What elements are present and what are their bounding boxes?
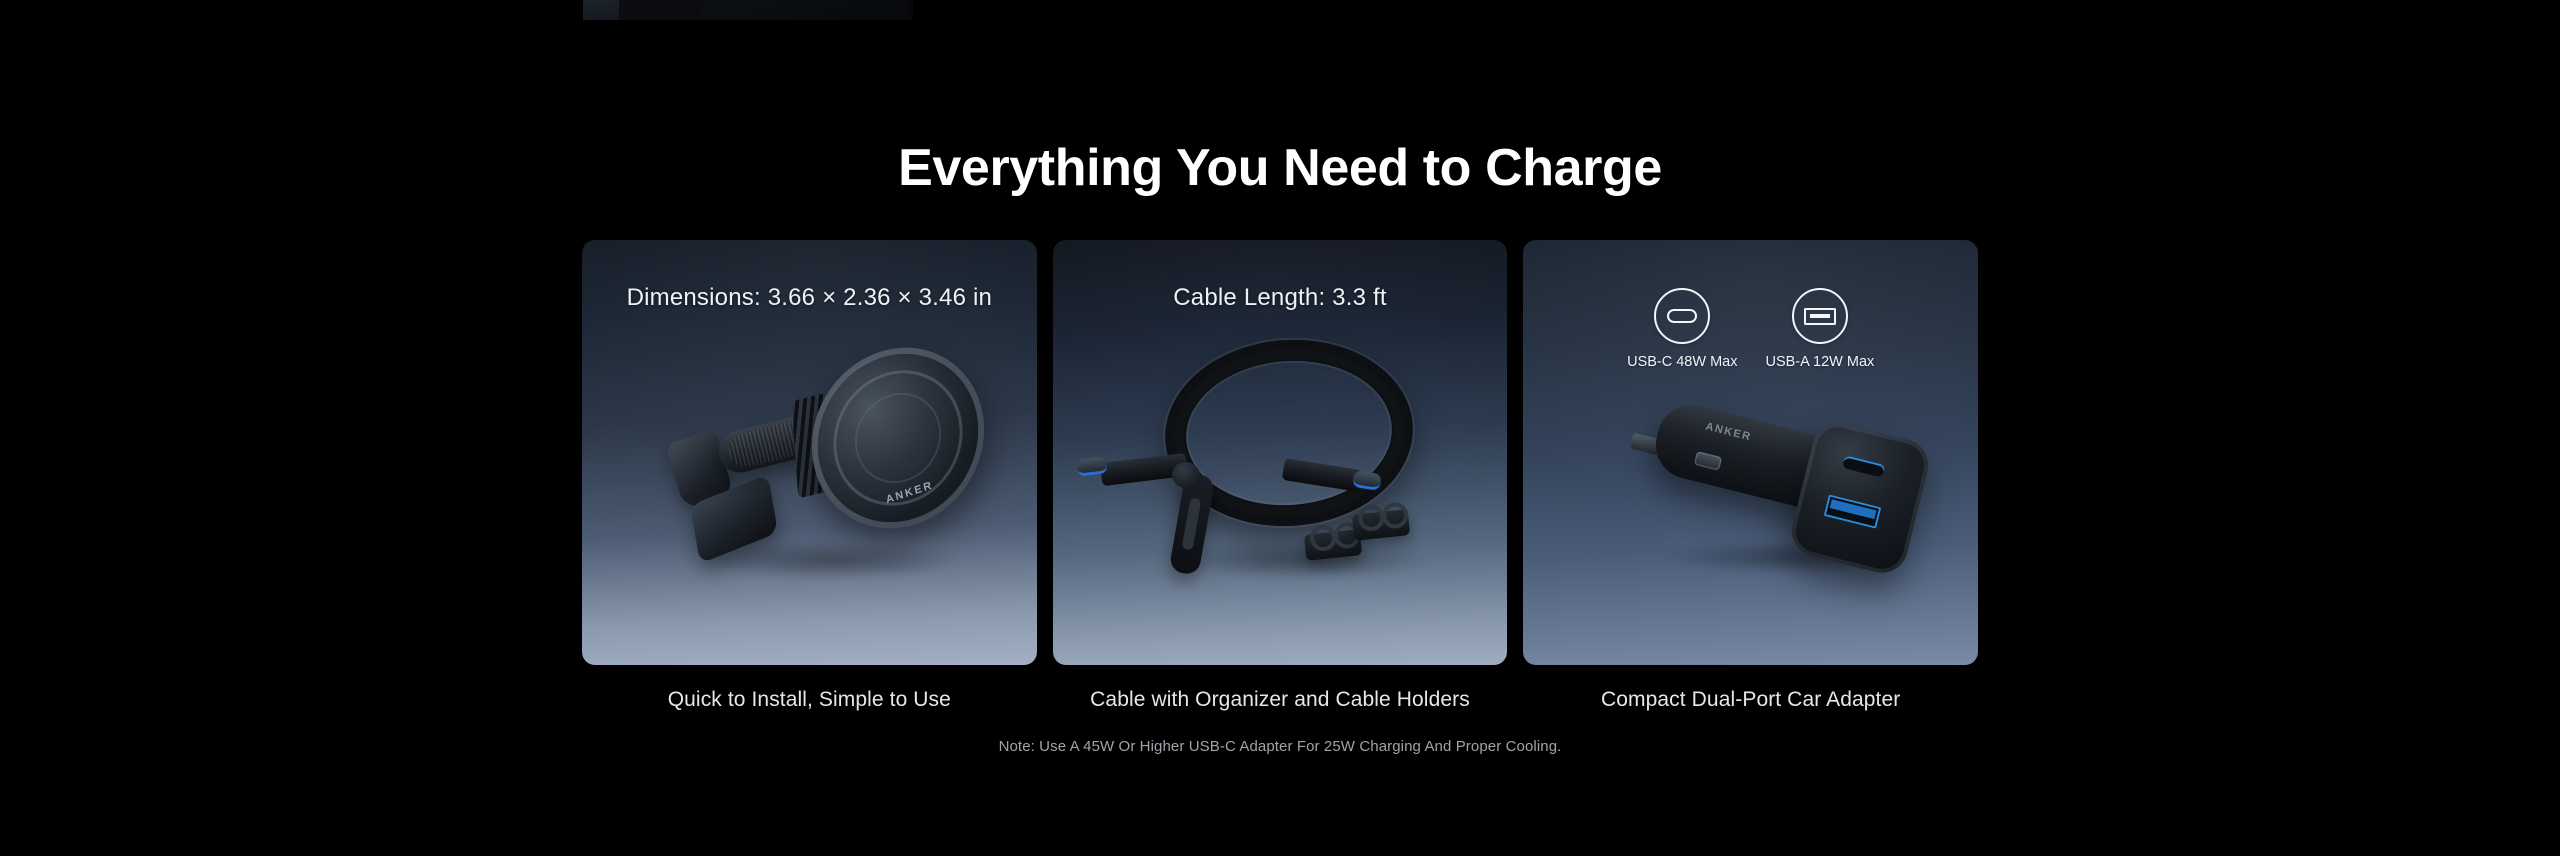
port-spec-usb-a: USB-A 12W Max: [1765, 288, 1874, 370]
feature-cards-row: ANKER Dimensions: 3.66 × 2.36 × 3.46 in …: [582, 240, 1978, 665]
cropped-panel-edge: [583, 0, 619, 20]
adapter-usb-a-port: [1824, 494, 1882, 528]
port-spec-usb-c: USB-C 48W Max: [1627, 288, 1737, 370]
cable-holder-clip: [1351, 509, 1409, 541]
feature-captions-row: Quick to Install, Simple to Use Cable wi…: [582, 688, 1978, 712]
usb-a-glyph-bar: [1810, 314, 1830, 318]
card-title-cable-length: Cable Length: 3.3 ft: [1053, 284, 1508, 312]
caption-adapter: Compact Dual-Port Car Adapter: [1523, 688, 1978, 712]
cable-shadow: [1173, 540, 1433, 580]
feature-card-adapter[interactable]: ANKER USB-C 48W Max: [1523, 240, 1978, 665]
usb-c-glyph: [1667, 309, 1697, 323]
usb-c-port-icon: [1654, 288, 1710, 344]
mount-magsafe-disc: ANKER: [796, 325, 1001, 552]
cropped-product-image-above: SN: 12345678901234567: [0, 0, 2560, 20]
usb-a-port-label: USB-A 12W Max: [1765, 354, 1874, 370]
adapter-port-spec-row: USB-C 48W Max USB-A 12W Max: [1523, 288, 1978, 370]
adapter-usb-c-port: [1842, 455, 1886, 478]
cropped-device-shape: [700, 0, 910, 20]
product-feature-section: SN: 12345678901234567 Everything You Nee…: [0, 0, 2560, 856]
usb-a-glyph: [1804, 308, 1836, 325]
usb-a-port-icon: [1792, 288, 1848, 344]
charging-note: Note: Use A 45W Or Higher USB-C Adapter …: [0, 738, 2560, 755]
caption-cable: Cable with Organizer and Cable Holders: [1053, 688, 1508, 712]
section-heading: Everything You Need to Charge: [0, 138, 2560, 198]
feature-card-mount[interactable]: ANKER Dimensions: 3.66 × 2.36 × 3.46 in: [582, 240, 1037, 665]
usb-c-port-label: USB-C 48W Max: [1627, 354, 1737, 370]
caption-mount: Quick to Install, Simple to Use: [582, 688, 1037, 712]
card-title-dimensions: Dimensions: 3.66 × 2.36 × 3.46 in: [582, 284, 1037, 312]
cropped-panel: [583, 0, 913, 20]
feature-card-cable[interactable]: Cable Length: 3.3 ft: [1053, 240, 1508, 665]
